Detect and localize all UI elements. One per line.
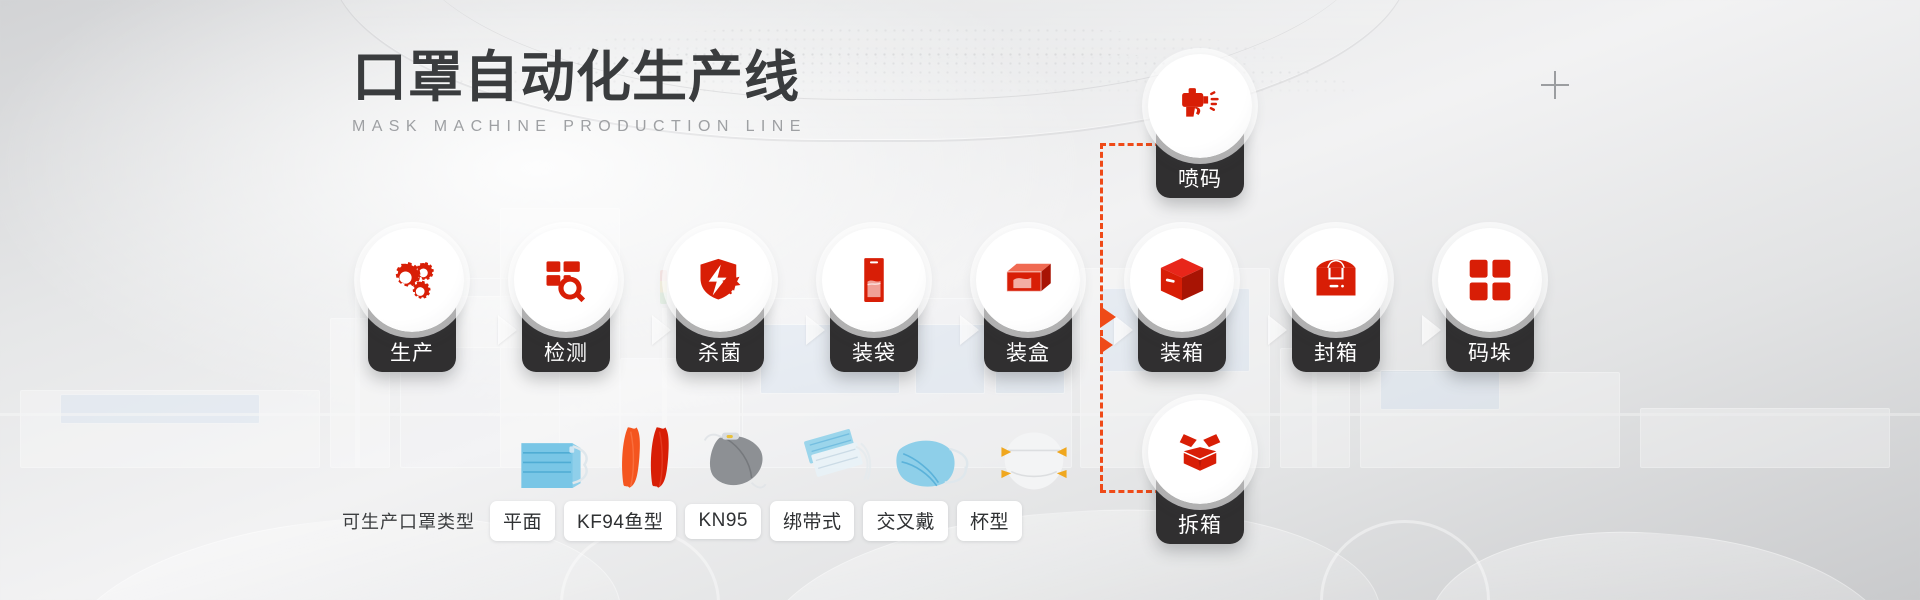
unboxing-open-carton-icon: [1174, 426, 1226, 478]
branch-line-vertical-lower: [1100, 330, 1103, 490]
mask-types-label: 可生产口罩类型: [342, 508, 475, 534]
magnifier-inspect-icon: [540, 254, 592, 306]
palletizing-squares-icon: [1464, 254, 1516, 306]
gallery-item-cup-respirator: [992, 426, 1076, 496]
mask-type-chip-flat[interactable]: 平面: [490, 501, 555, 541]
node-icon-circle: [822, 228, 926, 332]
mask-type-chip-cup[interactable]: 杯型: [957, 501, 1022, 541]
branch-arrow-into-case-packing: [1100, 306, 1116, 328]
mask-type-chip-cross[interactable]: 交叉戴: [863, 501, 948, 541]
node-label: 装袋: [822, 332, 926, 372]
node-label: 生产: [360, 332, 464, 372]
mask-types-row: 可生产口罩类型 平面 KF94鱼型 KN95 绑带式 交叉戴 杯型: [342, 501, 1022, 541]
cup-type-respirator-white: [992, 426, 1076, 496]
tie-band-mask-blue-stack: [796, 422, 888, 496]
earloop-surgical-mask-blue: [892, 426, 988, 496]
node-label: 拆箱: [1148, 504, 1252, 544]
gallery-item-earloop-surgical-mask: [892, 426, 988, 496]
node-icon-circle: [514, 228, 618, 332]
node-icon-circle: [1284, 228, 1388, 332]
node-icon-circle: [1148, 54, 1252, 158]
node-icon-circle: [976, 228, 1080, 332]
node-label: 装箱: [1130, 332, 1234, 372]
bagging-pouch-icon: [848, 254, 900, 306]
mask-watermark-large-far-right: [1423, 514, 1907, 600]
node-label: 检测: [514, 332, 618, 372]
page-subtitle: MASK MACHINE PRODUCTION LINE: [352, 118, 807, 136]
inkjet-spray-gun-icon: [1174, 80, 1226, 132]
branch-line-vertical: [1100, 143, 1103, 318]
kn95-folding-mask-gray: [700, 424, 786, 496]
kf94-fish-type-mask-orange-red: [612, 422, 684, 496]
gallery-item-kf94-fish-mask: [612, 422, 684, 496]
gallery-item-flat-surgical-mask: [507, 432, 603, 496]
flat-surgical-mask-blue: [507, 432, 603, 496]
node-label: 码垛: [1438, 332, 1542, 372]
branch-arrow-from-unboxing: [1100, 336, 1113, 354]
node-icon-circle: [1130, 228, 1234, 332]
mask-product-gallery: [512, 418, 1012, 496]
shield-sterilize-icon: [694, 254, 746, 306]
node-label: 杀菌: [668, 332, 772, 372]
node-icon-circle: [1438, 228, 1542, 332]
mask-type-chip-kn95[interactable]: KN95: [685, 504, 761, 539]
mask-type-chip-tie-band[interactable]: 绑带式: [770, 501, 855, 541]
node-label: 封箱: [1284, 332, 1388, 372]
header-title-block: 口罩自动化生产线 MASK MACHINE PRODUCTION LINE: [352, 47, 807, 136]
mask-type-chip-kf94[interactable]: KF94鱼型: [564, 501, 676, 541]
node-label: 喷码: [1148, 158, 1252, 198]
node-icon-circle: [668, 228, 772, 332]
boxing-carton-icon: [1002, 254, 1054, 306]
gallery-item-tie-band-mask: [796, 422, 888, 496]
node-label: 装盒: [976, 332, 1080, 372]
case-packing-cube-icon: [1156, 254, 1208, 306]
node-icon-circle: [1148, 400, 1252, 504]
plus-crosshair-icon: [1541, 71, 1569, 99]
gears-icon: [386, 254, 438, 306]
mask-watermark-earloop-right: [1320, 520, 1490, 600]
carton-sealing-icon: [1310, 254, 1362, 306]
node-icon-circle: [360, 228, 464, 332]
page-title: 口罩自动化生产线: [352, 47, 807, 109]
gallery-item-kn95-folding-mask: [700, 424, 786, 496]
